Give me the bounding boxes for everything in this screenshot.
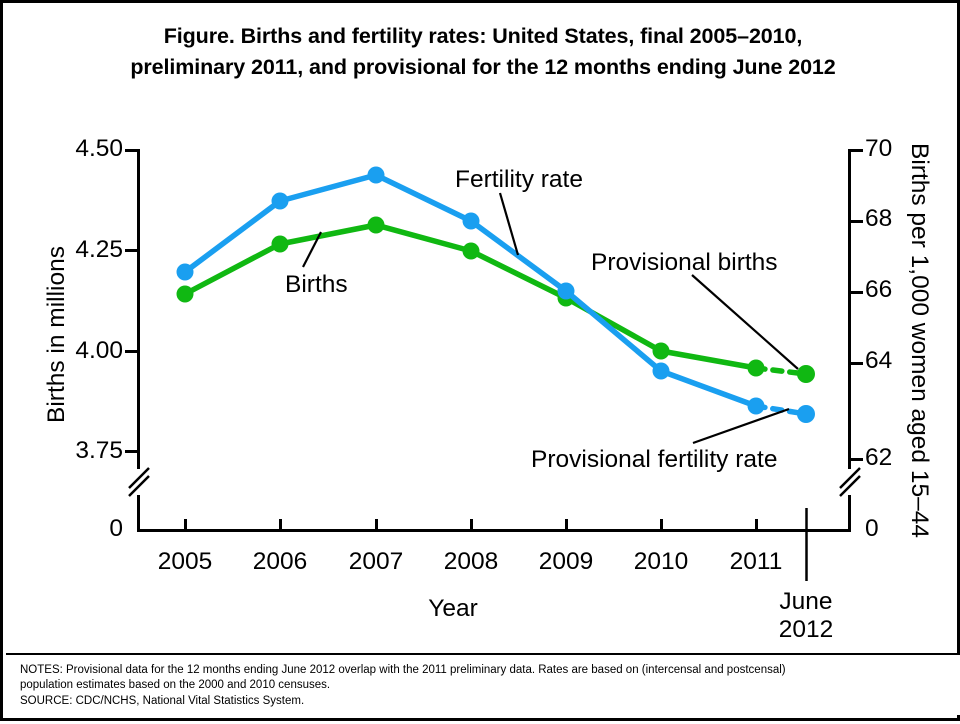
right-tick-label: 0 — [865, 515, 879, 543]
x-tick-label-2011: 2011 — [706, 548, 806, 576]
right-tick-label: 70 — [865, 135, 892, 163]
right-tick-label: 68 — [865, 205, 892, 233]
notes-line-1: NOTES: Provisional data for the 12 month… — [20, 663, 950, 679]
x-tick-label-2006: 2006 — [230, 548, 330, 576]
x-tick-label-june2012-line2: 2012 — [756, 616, 856, 644]
x-tick-label-2010: 2010 — [611, 548, 711, 576]
annotation-births: Births — [285, 271, 348, 299]
notes-line-2: population estimates based on the 2000 a… — [20, 678, 950, 694]
figure-container: Figure. Births and fertility rates: Unit… — [0, 0, 960, 721]
x-tick-label-2007: 2007 — [326, 548, 426, 576]
x-tick-label-2008: 2008 — [421, 548, 521, 576]
right-tick-label: 62 — [865, 444, 892, 472]
left-axis-title: Births in millions — [43, 246, 71, 423]
annotation-fertility-rate: Fertility rate — [455, 166, 583, 194]
x-tick-label-2009: 2009 — [516, 548, 616, 576]
x-tick-label-june2012-line1: June — [756, 588, 856, 616]
annotation-provisional-births: Provisional births — [591, 249, 778, 277]
x-axis-title: Year — [393, 595, 513, 623]
notes-block: NOTES: Provisional data for the 12 month… — [6, 653, 960, 716]
x-tick-label-2005: 2005 — [135, 548, 235, 576]
right-axis-title: Births per 1,000 women aged 15–44 — [905, 143, 933, 538]
right-tick-label: 64 — [865, 347, 892, 375]
source-line: SOURCE: CDC/NCHS, National Vital Statist… — [20, 694, 950, 710]
right-tick-label: 66 — [865, 276, 892, 304]
annotation-provisional-fertility-rate: Provisional fertility rate — [531, 446, 777, 474]
